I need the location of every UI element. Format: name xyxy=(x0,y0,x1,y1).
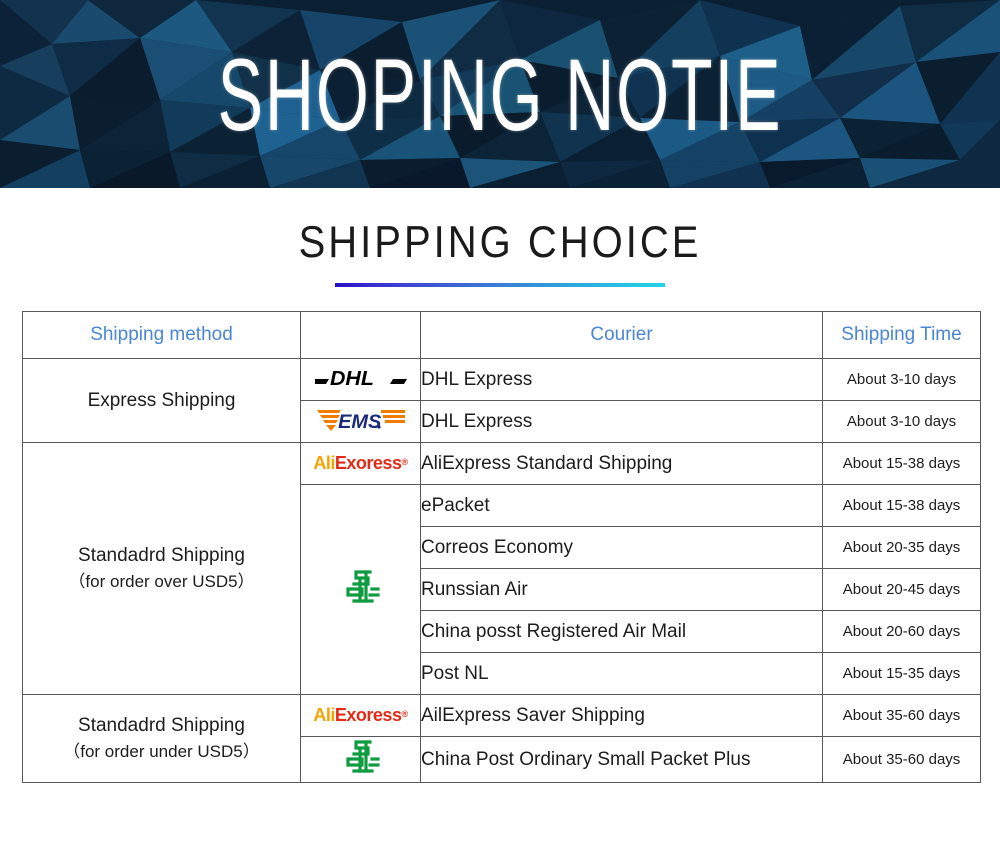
china-post-logo-icon xyxy=(340,737,382,777)
shipping-time: About 35-60 days xyxy=(823,695,981,737)
courier-name: AliExpress Standard Shipping xyxy=(421,443,823,485)
ems-logo-icon: EMS xyxy=(315,405,407,433)
method-sublabel: （for order under USD5） xyxy=(23,740,300,765)
header-shipping-method: Shipping method xyxy=(23,312,301,359)
shipping-time: About 15-35 days xyxy=(823,653,981,695)
table-row: Standadrd Shipping （for order under USD5… xyxy=(23,695,981,737)
header-logo xyxy=(301,312,421,359)
courier-name: ePacket xyxy=(421,485,823,527)
aliexpress-logo: AliExoress® xyxy=(313,454,407,472)
method-standard-shipping-under: Standadrd Shipping （for order under USD5… xyxy=(23,695,301,783)
shipping-time: About 35-60 days xyxy=(823,737,981,783)
method-express-shipping: Express Shipping xyxy=(23,359,301,443)
aliexpress-logo-part2: Exoress xyxy=(335,706,402,724)
courier-name: DHL Express xyxy=(421,401,823,443)
method-label: Standadrd Shipping xyxy=(78,545,245,566)
shipping-time: About 20-45 days xyxy=(823,569,981,611)
courier-name: Correos Economy xyxy=(421,527,823,569)
aliexpress-logo-part1: Ali xyxy=(313,706,335,724)
shipping-choice-table: Shipping method Courier Shipping Time Ex… xyxy=(22,311,981,783)
table-row: Express Shipping DHL DHL Express About 3… xyxy=(23,359,981,401)
section-heading-area: SHIPPING CHOICE xyxy=(0,188,1000,287)
shipping-time: About 20-60 days xyxy=(823,611,981,653)
ems-logo: EMS xyxy=(315,405,407,433)
svg-text:EMS: EMS xyxy=(338,411,381,432)
courier-name: Runssian Air xyxy=(421,569,823,611)
registered-mark-icon: ® xyxy=(401,710,407,719)
aliexpress-logo-part1: Ali xyxy=(313,454,335,472)
china-post-logo-icon xyxy=(340,567,382,607)
logo-cell-aliexpress: AliExoress® xyxy=(301,695,421,737)
registered-mark-icon: ® xyxy=(401,458,407,467)
shipping-time: About 3-10 days xyxy=(823,359,981,401)
logo-cell-chinapost xyxy=(301,737,421,783)
logo-cell-chinapost xyxy=(301,485,421,695)
dhl-logo-icon: DHL xyxy=(315,364,407,390)
shipping-time: About 3-10 days xyxy=(823,401,981,443)
logo-cell-dhl: DHL xyxy=(301,359,421,401)
method-label: Standadrd Shipping xyxy=(78,715,245,736)
shipping-table-container: Shipping method Courier Shipping Time Ex… xyxy=(22,311,980,783)
courier-name: China Post Ordinary Small Packet Plus xyxy=(421,737,823,783)
method-standard-shipping-over: Standadrd Shipping （for order over USD5） xyxy=(23,443,301,695)
shipping-time: About 15-38 days xyxy=(823,443,981,485)
method-label: Express Shipping xyxy=(88,390,236,411)
aliexpress-logo-part2: Exoress xyxy=(335,454,402,472)
chinapost-logo xyxy=(340,567,382,607)
logo-cell-ems: EMS xyxy=(301,401,421,443)
table-row: Standadrd Shipping （for order over USD5）… xyxy=(23,443,981,485)
dhl-logo: DHL xyxy=(315,364,407,390)
svg-text:DHL: DHL xyxy=(329,368,373,390)
aliexpress-logo: AliExoress® xyxy=(313,706,407,724)
chinapost-logo xyxy=(340,737,382,777)
courier-name: AilExpress Saver Shipping xyxy=(421,695,823,737)
shipping-time: About 15-38 days xyxy=(823,485,981,527)
courier-name: DHL Express xyxy=(421,359,823,401)
courier-name: China posst Registered Air Mail xyxy=(421,611,823,653)
table-header-row: Shipping method Courier Shipping Time xyxy=(23,312,981,359)
section-title: SHIPPING CHOICE xyxy=(299,218,702,268)
header-shipping-time: Shipping Time xyxy=(823,312,981,359)
courier-name: Post NL xyxy=(421,653,823,695)
header-courier: Courier xyxy=(421,312,823,359)
title-underline xyxy=(335,283,665,287)
logo-cell-aliexpress: AliExoress® xyxy=(301,443,421,485)
header-banner: SHOPING NOTIE xyxy=(0,0,1000,188)
banner-title: SHOPING NOTIE xyxy=(40,0,960,188)
method-sublabel: （for order over USD5） xyxy=(23,570,300,595)
shipping-time: About 20-35 days xyxy=(823,527,981,569)
